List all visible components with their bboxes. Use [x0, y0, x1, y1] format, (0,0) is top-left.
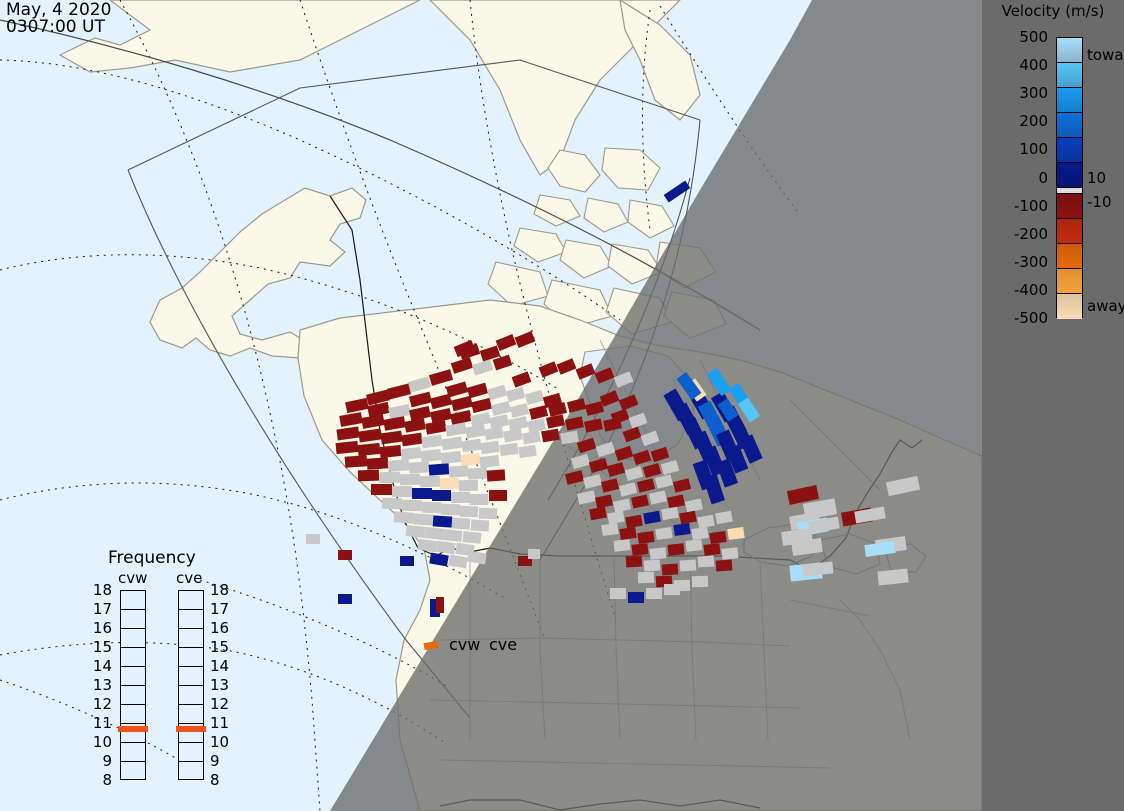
velocity-cell	[584, 418, 603, 432]
velocity-cell	[479, 508, 497, 520]
velocity-cell	[336, 427, 359, 441]
velocity-cell	[601, 523, 618, 536]
velocity-cell	[306, 534, 320, 544]
velocity-cell	[367, 457, 389, 469]
velocity-cell	[655, 474, 673, 489]
velocity-cell	[387, 384, 411, 400]
velocity-cell	[738, 398, 760, 423]
velocity-cell	[503, 429, 523, 443]
frequency-tick-label: 12	[90, 695, 112, 713]
velocity-cell	[358, 470, 379, 482]
velocity-cell	[470, 494, 488, 505]
velocity-cell	[633, 450, 652, 465]
velocity-cell	[610, 588, 626, 599]
velocity-cell	[522, 431, 541, 445]
radar-velocity-map-page: cvwcve May, 4 2020 0307:00 UT Frequency …	[0, 0, 1124, 811]
velocity-cell	[577, 438, 597, 454]
frequency-scale-cell	[121, 648, 145, 667]
velocity-cell	[607, 462, 625, 477]
colorbar-tick-label: 0	[1038, 169, 1048, 187]
velocity-cell	[429, 463, 450, 475]
velocity-cell	[629, 413, 648, 429]
frequency-bar-cvw[interactable]	[120, 590, 146, 780]
frequency-tick-label: 11	[90, 714, 112, 732]
velocity-cell	[379, 472, 400, 484]
velocity-cell	[715, 511, 733, 525]
velocity-cell	[692, 576, 708, 588]
frequency-tick-label: 15	[90, 638, 112, 656]
frequency-tick-label: 18	[90, 581, 112, 599]
velocity-cell	[600, 390, 620, 407]
velocity-cell	[631, 494, 649, 508]
velocity-cell	[412, 488, 432, 499]
frequency-tick-label: 14	[90, 657, 112, 675]
velocity-cell	[471, 519, 490, 531]
velocity-cell	[577, 490, 596, 504]
velocity-cells-layer	[0, 0, 982, 811]
velocity-cell	[461, 439, 481, 453]
velocity-cell	[727, 527, 744, 540]
velocity-cell	[445, 422, 467, 436]
velocity-cell	[877, 568, 908, 585]
velocity-cell	[518, 445, 536, 458]
velocity-cell	[409, 461, 430, 473]
velocity-cell	[649, 490, 667, 504]
velocity-cell	[528, 549, 540, 559]
frequency-marker-cve	[176, 726, 206, 732]
velocity-cell	[628, 592, 644, 603]
velocity-cell	[382, 498, 402, 510]
velocity-cell	[589, 507, 607, 521]
frequency-tick-label: 17	[210, 600, 229, 618]
frequency-tick-label: 16	[90, 619, 112, 637]
velocity-cell	[691, 527, 708, 540]
velocity-cell	[649, 547, 666, 560]
colorbar-segment	[1057, 38, 1082, 63]
velocity-cell	[338, 594, 352, 604]
colorbar-tick-label: 400	[1019, 56, 1048, 74]
velocity-cell	[643, 511, 661, 525]
frequency-tick-label: 8	[210, 771, 220, 789]
velocity-cell	[436, 541, 455, 554]
velocity-cell	[421, 435, 442, 449]
velocity-cell	[400, 474, 420, 486]
velocity-cell	[615, 446, 634, 461]
frequency-tick-label: 10	[210, 733, 229, 751]
colorbar-tick-label: 300	[1019, 84, 1048, 102]
colorbar-positive-threshold-label: 10	[1087, 169, 1106, 187]
frequency-column-label-cve: cve	[176, 569, 202, 587]
velocity-cell	[557, 358, 577, 375]
colorbar-tick-label: -400	[1014, 281, 1048, 299]
velocity-cell	[625, 466, 643, 481]
velocity-cell	[611, 409, 630, 425]
velocity-cell	[479, 455, 499, 468]
colorbar-negative-threshold-label: -10	[1087, 193, 1112, 211]
colorbar-title: Velocity (m/s)	[982, 2, 1124, 20]
frequency-scale-cell	[121, 667, 145, 686]
velocity-cell	[619, 527, 636, 540]
colorbar-away-label: away	[1087, 297, 1124, 315]
velocity-cell	[423, 641, 438, 650]
colorbar-tick-label: -100	[1014, 197, 1048, 215]
colorbar-segment	[1057, 244, 1082, 269]
frequency-scale-cell	[121, 686, 145, 705]
frequency-tick-label: 17	[90, 600, 112, 618]
velocity-cell	[487, 469, 506, 481]
velocity-cell	[664, 584, 680, 595]
velocity-cell	[864, 541, 895, 557]
frequency-scale-cell	[179, 667, 203, 686]
velocity-cell	[472, 359, 493, 375]
velocity-cell	[644, 559, 661, 571]
velocity-cell	[430, 394, 452, 410]
velocity-cell	[661, 507, 679, 521]
map-canvas[interactable]: cvwcve May, 4 2020 0307:00 UT Frequency …	[0, 0, 982, 811]
velocity-cell	[401, 433, 422, 447]
velocity-cell	[335, 441, 358, 454]
velocity-cell	[646, 588, 662, 599]
velocity-cell	[432, 490, 451, 501]
velocity-cell	[448, 555, 468, 569]
velocity-colorbar-panel: Velocity (m/s) 5004003002001000-100-200-…	[982, 0, 1124, 811]
velocity-cell	[487, 385, 507, 401]
velocity-cell	[709, 531, 726, 544]
velocity-cell	[433, 515, 453, 527]
frequency-tick-label: 8	[90, 771, 112, 789]
velocity-cell	[673, 523, 690, 536]
velocity-cell	[567, 398, 586, 413]
velocity-cell	[443, 529, 462, 542]
velocity-cell	[402, 500, 422, 512]
velocity-cell	[338, 550, 352, 560]
velocity-cell	[345, 398, 369, 413]
frequency-bar-cve[interactable]	[178, 590, 204, 780]
velocity-cell	[417, 539, 437, 553]
velocity-cell	[394, 511, 415, 523]
frequency-tick-label: 15	[210, 638, 229, 656]
velocity-cell	[361, 414, 385, 429]
velocity-cell	[576, 363, 596, 380]
velocity-cell	[698, 555, 715, 567]
velocity-cell	[491, 401, 511, 416]
velocity-cell	[512, 371, 532, 387]
velocity-cell	[429, 553, 449, 567]
velocity-cell	[641, 431, 660, 447]
velocity-cell	[707, 368, 732, 396]
radar-site-label-cve: cve	[489, 635, 517, 654]
velocity-cell	[510, 403, 529, 418]
frequency-scale-cell	[121, 705, 145, 724]
frequency-scale-cell	[121, 610, 145, 629]
colorbar-gradient	[1056, 37, 1083, 318]
velocity-cell	[489, 490, 507, 501]
frequency-tick-label: 13	[210, 676, 229, 694]
velocity-cell	[662, 563, 679, 575]
velocity-cell	[484, 427, 504, 441]
velocity-cell	[468, 467, 488, 479]
velocity-cell	[802, 561, 833, 576]
velocity-cell	[449, 465, 469, 477]
velocity-cell	[392, 486, 412, 497]
frequency-scale-cell	[121, 591, 145, 610]
velocity-cell	[614, 371, 634, 388]
velocity-cell	[623, 427, 642, 443]
velocity-cell	[583, 474, 602, 489]
frequency-tick-label: 14	[210, 657, 229, 675]
frequency-scale-cell	[179, 610, 203, 629]
velocity-cell	[721, 547, 738, 560]
frequency-tick-label: 16	[210, 619, 229, 637]
velocity-cell	[506, 387, 525, 402]
colorbar-segment	[1057, 194, 1082, 219]
velocity-cell	[515, 331, 536, 348]
velocity-cell	[371, 484, 392, 495]
velocity-cell	[400, 447, 421, 460]
velocity-cell	[425, 420, 447, 434]
velocity-cell	[596, 442, 616, 458]
velocity-cell	[661, 460, 679, 475]
colorbar-tick-label: 200	[1019, 112, 1048, 130]
velocity-cell	[601, 478, 619, 493]
velocity-cell	[637, 531, 654, 544]
colorbar-tick-label: 100	[1019, 140, 1048, 158]
colorbar-tick-label: 500	[1019, 28, 1048, 46]
velocity-cell	[716, 559, 733, 571]
frequency-column-label-cvw: cvw	[118, 569, 147, 587]
colorbar-segment	[1057, 63, 1082, 88]
velocity-cell	[414, 513, 434, 525]
velocity-cell	[480, 441, 499, 454]
colorbar-segment	[1057, 219, 1082, 244]
colorbar-tick-label: -200	[1014, 225, 1048, 243]
velocity-cell	[595, 367, 615, 384]
velocity-cell	[436, 597, 444, 613]
velocity-cell	[465, 424, 486, 438]
frequency-scale-cell	[121, 629, 145, 648]
colorbar-toward-label: toward	[1087, 46, 1124, 64]
velocity-cell	[460, 453, 480, 466]
colorbar-tick-label: -300	[1014, 253, 1048, 271]
colorbar-segment	[1057, 294, 1082, 319]
velocity-cell	[685, 539, 702, 552]
velocity-cell	[565, 470, 584, 485]
frequency-tick-label: 13	[90, 676, 112, 694]
velocity-cell	[703, 543, 720, 556]
velocity-cell	[565, 416, 584, 430]
velocity-cell	[619, 482, 637, 497]
velocity-cell	[619, 394, 639, 411]
velocity-cell	[667, 543, 684, 556]
velocity-cell	[471, 398, 492, 413]
colorbar-segment	[1057, 88, 1082, 113]
velocity-cell	[345, 455, 368, 468]
timestamp-label: May, 4 2020 0307:00 UT	[6, 2, 111, 36]
velocity-cell	[400, 556, 414, 566]
frequency-scale-cell	[179, 762, 203, 781]
frequency-scale-cell	[179, 629, 203, 648]
velocity-cell	[380, 431, 402, 445]
velocity-cell	[451, 357, 473, 374]
velocity-cell	[638, 572, 654, 584]
velocity-cell	[460, 506, 478, 518]
velocity-cell	[404, 418, 426, 432]
frequency-marker-cvw	[118, 726, 148, 732]
frequency-tick-label: 12	[210, 695, 229, 713]
velocity-cell	[440, 451, 461, 464]
velocity-cell	[613, 539, 630, 552]
velocity-cell	[664, 180, 691, 202]
velocity-cell	[462, 531, 481, 544]
velocity-cell	[631, 543, 648, 556]
frequency-scale-cell	[121, 762, 145, 781]
frequency-scale-cell	[179, 743, 203, 762]
velocity-cell	[441, 504, 460, 516]
colorbar-segment	[1057, 269, 1082, 294]
velocity-cell	[459, 480, 478, 492]
colorbar-tick-label: -500	[1014, 309, 1048, 327]
velocity-cell	[680, 559, 697, 571]
velocity-cell	[886, 476, 920, 496]
frequency-scale-cell	[179, 686, 203, 705]
radar-site-label-cvw: cvw	[449, 635, 480, 654]
frequency-scale-cell	[121, 743, 145, 762]
velocity-cell	[637, 478, 655, 493]
velocity-cell	[626, 555, 643, 567]
velocity-cell	[358, 429, 381, 443]
velocity-cell	[643, 463, 661, 478]
velocity-cell	[673, 478, 691, 493]
velocity-cell	[496, 334, 517, 351]
velocity-cell	[440, 478, 459, 490]
velocity-cell	[429, 369, 453, 386]
velocity-cell	[383, 416, 406, 430]
velocity-cell	[585, 401, 604, 416]
velocity-cell	[525, 390, 544, 405]
frequency-scale-cell	[179, 705, 203, 724]
velocity-cell	[422, 502, 441, 514]
velocity-cell	[405, 525, 425, 538]
velocity-cell	[651, 447, 670, 462]
velocity-cell	[655, 527, 672, 540]
frequency-tick-label: 18	[210, 581, 229, 599]
velocity-cell	[452, 517, 471, 529]
frequency-tick-label: 9	[90, 752, 112, 770]
velocity-cell	[339, 412, 363, 427]
velocity-cell	[589, 458, 608, 473]
velocity-cell	[379, 445, 401, 458]
frequency-tick-label: 10	[90, 733, 112, 751]
velocity-cell	[467, 551, 487, 565]
velocity-cell	[541, 429, 560, 443]
velocity-cell	[424, 527, 444, 540]
velocity-cell	[571, 454, 590, 469]
frequency-title: Frequency	[108, 548, 196, 568]
velocity-cell	[791, 538, 823, 556]
frequency-tick-label: 11	[210, 714, 229, 732]
frequency-tick-label: 9	[210, 752, 220, 770]
frequency-scale-cell	[179, 648, 203, 667]
colorbar-segment	[1057, 163, 1082, 188]
velocity-cell	[546, 414, 565, 428]
frequency-scale-cell	[179, 591, 203, 610]
velocity-cell	[420, 476, 440, 488]
velocity-cell	[441, 437, 462, 451]
colorbar-segment	[1057, 138, 1082, 163]
velocity-cell	[357, 443, 380, 456]
velocity-cell	[408, 376, 431, 392]
velocity-cell	[420, 449, 441, 462]
velocity-cell	[499, 443, 518, 456]
velocity-cell	[388, 459, 410, 471]
colorbar-segment	[1057, 113, 1082, 138]
velocity-cell	[451, 396, 473, 412]
velocity-cell	[451, 492, 470, 503]
